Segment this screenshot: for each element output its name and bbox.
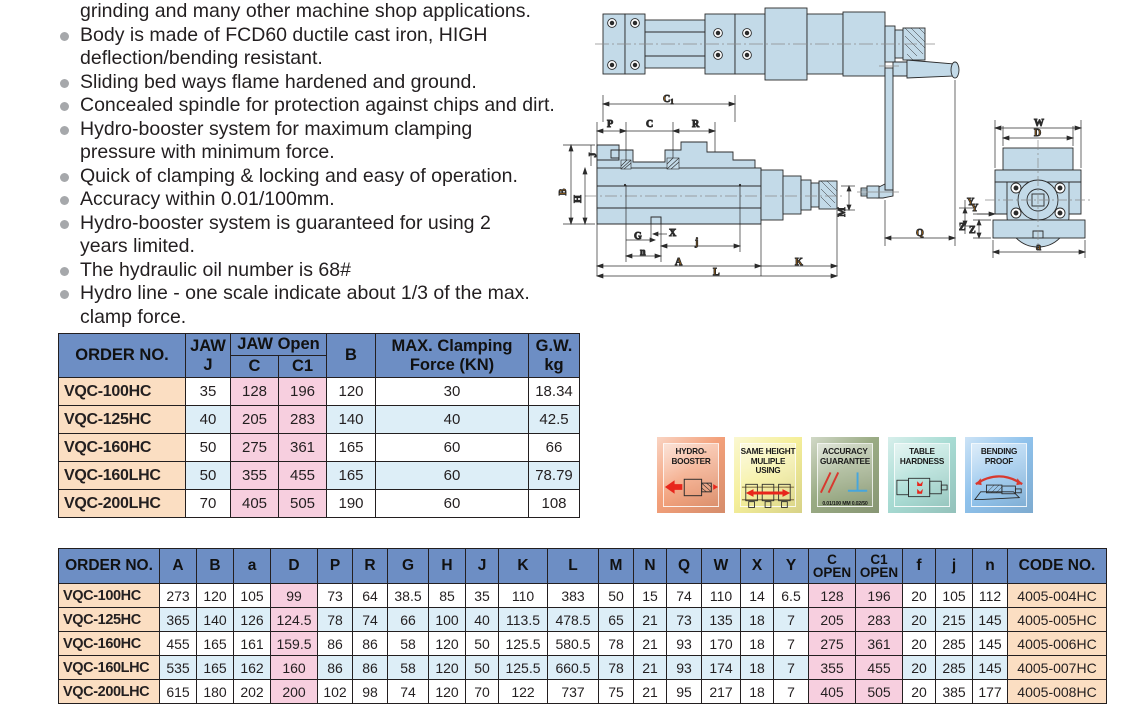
dim-label-J: J [588, 153, 599, 158]
bullet-icon [60, 290, 69, 299]
data-cell: 165 [197, 656, 234, 680]
data-cell: 217 [702, 680, 741, 704]
badge-label-line1: TABLE [909, 447, 935, 456]
data-cell: 100 [429, 608, 466, 632]
data-cell: 40 [376, 406, 529, 434]
data-cell: 128 [809, 584, 856, 608]
accuracy-guarantee-icon [817, 466, 873, 501]
data-cell: 128 [231, 378, 279, 406]
data-cell: 65 [599, 608, 634, 632]
data-cell: 7 [774, 656, 809, 680]
th-G: G [388, 549, 429, 584]
data-cell: 535 [160, 656, 197, 680]
data-cell: 112 [973, 584, 1008, 608]
data-cell: 275 [231, 434, 279, 462]
data-cell: 18 [741, 680, 774, 704]
data-cell: 18 [741, 656, 774, 680]
data-cell: 105 [936, 584, 973, 608]
feature-badge: TABLEHARDNESS [888, 437, 956, 513]
data-cell: 145 [973, 608, 1008, 632]
dim-label-A: A [675, 257, 683, 268]
dim-label-C1-top: C1 [663, 94, 674, 106]
dim-label-D: D [1034, 128, 1041, 139]
feature-text: grinding and many other machine shop app… [80, 0, 531, 22]
data-cell: 74 [353, 608, 388, 632]
data-cell: 165 [197, 632, 234, 656]
feature-line: grinding and many other machine shop app… [58, 0, 603, 24]
data-cell: 505 [279, 490, 327, 518]
th-max-clamping-force: MAX. Clamping Force (KN) [376, 334, 529, 378]
data-cell: 35 [186, 378, 231, 406]
bullet-icon [60, 196, 69, 205]
feature-text: Body is made of FCD60 ductile cast iron,… [80, 24, 488, 46]
data-cell: 285 [936, 656, 973, 680]
badge-sublabel: 0.01/100 MM 0.02/50 [822, 501, 867, 507]
th-B: B [197, 549, 234, 584]
data-cell: 50 [466, 632, 499, 656]
feature-list: grinding and many other machine shop app… [58, 0, 603, 329]
table-row: VQC-125HC402052831404042.5 [59, 406, 580, 434]
th-gross-weight: G.W. kg [529, 334, 580, 378]
data-cell: 18 [741, 608, 774, 632]
data-cell: 196 [856, 584, 903, 608]
data-cell: 20 [903, 584, 936, 608]
data-cell: 580.5 [548, 632, 599, 656]
th-L: L [548, 549, 599, 584]
data-cell: 273 [160, 584, 197, 608]
data-cell: 125.5 [499, 656, 548, 680]
dim-label-a: a [1036, 242, 1041, 253]
data-cell: 285 [936, 632, 973, 656]
badge-label: SAME HEIGHTMULIPLE USING [740, 447, 796, 476]
badge-label: BENDINGPROOF [981, 447, 1017, 466]
th-order: ORDER NO. [59, 549, 160, 584]
data-cell: 145 [973, 656, 1008, 680]
data-cell: 86 [318, 656, 353, 680]
feature-line: clamp force. [58, 306, 603, 330]
feature-text: Concealed spindle for protection against… [80, 94, 555, 116]
dim-label-Q: Q [916, 228, 924, 239]
badge-label-line2: MULIPLE USING [751, 457, 786, 476]
data-cell: 21 [634, 656, 667, 680]
data-cell: 120 [429, 656, 466, 680]
data-cell: 21 [634, 632, 667, 656]
th-order-no: ORDER NO. [59, 334, 186, 378]
bullet-icon [60, 220, 69, 229]
code-no-cell: 4005-007HC [1008, 656, 1107, 680]
data-cell: 85 [429, 584, 466, 608]
data-cell: 99 [271, 584, 318, 608]
dim-label-L: L [713, 267, 720, 278]
drawing-handle-view: Q Y Z [857, 60, 975, 246]
data-cell: 73 [318, 584, 353, 608]
data-cell: 120 [429, 680, 466, 704]
data-cell: 93 [667, 656, 702, 680]
bullet-icon [60, 173, 69, 182]
dim-label-P: P [607, 119, 613, 130]
data-cell: 113.5 [499, 608, 548, 632]
data-cell: 110 [499, 584, 548, 608]
data-cell: 165 [327, 462, 376, 490]
data-cell: 78 [318, 608, 353, 632]
data-cell: 737 [548, 680, 599, 704]
table2-header-row: ORDER NO.ABaDPRGHJKLMNQWXYCOPENC1OPENfjn… [59, 549, 1107, 584]
feature-text: pressure with minimum force. [80, 141, 335, 163]
badge-label-line1: ACCURACY [822, 447, 867, 456]
data-cell: 385 [936, 680, 973, 704]
th-M: M [599, 549, 634, 584]
order-no-cell: VQC-200LHC [59, 680, 160, 704]
bullet-icon [60, 102, 69, 111]
feature-line: deflection/bending resistant. [58, 47, 603, 71]
data-cell: 58 [388, 632, 429, 656]
drawing-top-view [595, 8, 935, 80]
drawing-side-view [585, 142, 845, 224]
feature-line: Quick of clamping & locking and easy of … [58, 165, 603, 189]
data-cell: 18.34 [529, 378, 580, 406]
data-cell: 7 [774, 680, 809, 704]
feature-badge: SAME HEIGHTMULIPLE USING [734, 437, 802, 513]
data-cell: 108 [529, 490, 580, 518]
bending-proof-icon [971, 466, 1027, 507]
dim-label-M: M [837, 207, 848, 217]
data-cell: 140 [197, 608, 234, 632]
data-cell: 159.5 [271, 632, 318, 656]
badge-label: ACCURACYGUARANTEE [820, 447, 870, 466]
drawing-front-view: W D Y Z a [969, 118, 1091, 258]
data-cell: 283 [856, 608, 903, 632]
data-cell: 20 [903, 656, 936, 680]
feature-line: Sliding bed ways flame hardened and grou… [58, 71, 603, 95]
data-cell: 205 [809, 608, 856, 632]
feature-line: Hydro-booster system is guaranteed for u… [58, 212, 603, 236]
feature-text: Sliding bed ways flame hardened and grou… [80, 71, 477, 93]
th-code: CODE NO. [1008, 549, 1107, 584]
th-j-label: J [186, 356, 230, 375]
dim-label-C: C [646, 119, 653, 130]
data-cell: 455 [160, 632, 197, 656]
data-cell: 283 [279, 406, 327, 434]
data-cell: 365 [160, 608, 197, 632]
data-cell: 660.5 [548, 656, 599, 680]
dim-label-G: G [634, 231, 642, 242]
data-cell: 75 [599, 680, 634, 704]
code-no-cell: 4005-005HC [1008, 608, 1107, 632]
order-no-cell: VQC-160LHC [59, 462, 186, 490]
table-row: VQC-125HC365140126124.578746610040113.54… [59, 608, 1107, 632]
feature-text: Hydro-booster system for maximum clampin… [80, 118, 472, 140]
th-R: R [353, 549, 388, 584]
data-cell: 505 [856, 680, 903, 704]
hydro-booster-icon [663, 466, 719, 507]
data-cell: 205 [231, 406, 279, 434]
data-cell: 70 [186, 490, 231, 518]
bullet-icon [60, 267, 69, 276]
th-H: H [429, 549, 466, 584]
th-c1_open: C1OPEN [856, 549, 903, 584]
th-N: N [634, 549, 667, 584]
data-cell: 74 [667, 584, 702, 608]
table-row: VQC-160HC455165161159.586865812050125.55… [59, 632, 1107, 656]
data-cell: 105 [234, 584, 271, 608]
feature-line: Hydro line - one scale indicate about 1/… [58, 282, 603, 306]
data-cell: 78.79 [529, 462, 580, 490]
data-cell: 615 [160, 680, 197, 704]
badge-label-line2: GUARANTEE [820, 457, 870, 466]
feature-line: pressure with minimum force. [58, 141, 603, 165]
data-cell: 200 [271, 680, 318, 704]
feature-text: Quick of clamping & locking and easy of … [80, 165, 518, 187]
data-cell: 6.5 [774, 584, 809, 608]
dim-label-Z-handle: Z [959, 222, 966, 233]
data-cell: 20 [903, 680, 936, 704]
feature-badge-row: HYDRO-BOOSTER SAME HEIGHTMULIPLE USING A… [657, 437, 1033, 513]
data-cell: 177 [973, 680, 1008, 704]
data-cell: 38.5 [388, 584, 429, 608]
badge-label: HYDRO-BOOSTER [671, 447, 710, 466]
data-cell: 21 [634, 608, 667, 632]
feature-line: Accuracy within 0.01/100mm. [58, 188, 603, 212]
th-n: n [973, 549, 1008, 584]
data-cell: 7 [774, 632, 809, 656]
data-cell: 122 [499, 680, 548, 704]
th-Y: Y [774, 549, 809, 584]
th-a: a [234, 549, 271, 584]
th-line2: OPEN [858, 566, 900, 579]
th-jaw-j: JAW J [186, 334, 231, 378]
data-cell: 66 [529, 434, 580, 462]
feature-text: Hydro-booster system is guaranteed for u… [80, 212, 491, 234]
data-cell: 78 [599, 656, 634, 680]
data-cell: 355 [231, 462, 279, 490]
data-cell: 174 [702, 656, 741, 680]
data-cell: 35 [466, 584, 499, 608]
table-row: VQC-200LHC615180202200102987412070122737… [59, 680, 1107, 704]
data-cell: 110 [702, 584, 741, 608]
data-cell: 162 [234, 656, 271, 680]
dim-label-H: H [573, 195, 584, 203]
data-cell: 93 [667, 632, 702, 656]
th-X: X [741, 549, 774, 584]
dim-label-j: j [694, 237, 698, 248]
code-no-cell: 4005-004HC [1008, 584, 1107, 608]
feature-line: Body is made of FCD60 ductile cast iron,… [58, 24, 603, 48]
table1-header-row: ORDER NO. JAW J JAW Open B MAX. Clamping… [59, 334, 580, 356]
feature-text: Hydro line - one scale indicate about 1/… [80, 282, 530, 304]
table-row: VQC-200LHC7040550519060108 [59, 490, 580, 518]
data-cell: 86 [318, 632, 353, 656]
table-hardness-icon [894, 466, 950, 507]
data-cell: 30 [376, 378, 529, 406]
feature-line: The hydraulic oil number is 68# [58, 259, 603, 283]
table-row: VQC-100HC351281961203018.34 [59, 378, 580, 406]
bullet-icon [60, 126, 69, 135]
data-cell: 125.5 [499, 632, 548, 656]
dim-label-B: B [558, 188, 569, 195]
data-cell: 50 [466, 656, 499, 680]
data-cell: 66 [388, 608, 429, 632]
data-cell: 50 [186, 434, 231, 462]
order-no-cell: VQC-160LHC [59, 656, 160, 680]
data-cell: 126 [234, 608, 271, 632]
feature-line: years limited. [58, 235, 603, 259]
data-cell: 355 [809, 656, 856, 680]
th-D: D [271, 549, 318, 584]
badge-label-line1: BENDING [981, 447, 1017, 456]
feature-text: The hydraulic oil number is 68# [80, 259, 351, 281]
th-J: J [466, 549, 499, 584]
bullet-icon [60, 79, 69, 88]
data-cell: 161 [234, 632, 271, 656]
dim-label-X: X [669, 228, 677, 239]
feature-text: years limited. [80, 235, 195, 257]
table-row: VQC-160HC502753611656066 [59, 434, 580, 462]
data-cell: 140 [327, 406, 376, 434]
code-no-cell: 4005-006HC [1008, 632, 1107, 656]
th-jaw-label: JAW [186, 337, 230, 356]
data-cell: 86 [353, 656, 388, 680]
th-c1: C1 [279, 356, 327, 378]
data-cell: 120 [197, 584, 234, 608]
th-Q: Q [667, 549, 702, 584]
data-cell: 86 [353, 632, 388, 656]
data-cell: 20 [903, 608, 936, 632]
data-cell: 14 [741, 584, 774, 608]
order-no-cell: VQC-100HC [59, 378, 186, 406]
th-gw-unit: kg [529, 356, 579, 375]
th-W: W [702, 549, 741, 584]
data-cell: 50 [186, 462, 231, 490]
badge-label-line2: PROOF [985, 457, 1013, 466]
data-cell: 405 [231, 490, 279, 518]
data-cell: 455 [856, 656, 903, 680]
feature-line: Hydro-booster system for maximum clampin… [58, 118, 603, 142]
data-cell: 60 [376, 462, 529, 490]
feature-text: Accuracy within 0.01/100mm. [80, 188, 335, 210]
data-cell: 21 [634, 680, 667, 704]
feature-line: Concealed spindle for protection against… [58, 94, 603, 118]
dim-label-Z-front: Z [969, 225, 976, 236]
badge-label-line1: SAME HEIGHT [741, 447, 796, 456]
order-no-cell: VQC-100HC [59, 584, 160, 608]
data-cell: 64 [353, 584, 388, 608]
data-cell: 60 [376, 490, 529, 518]
data-cell: 73 [667, 608, 702, 632]
data-cell: 15 [634, 584, 667, 608]
th-K: K [499, 549, 548, 584]
data-cell: 180 [197, 680, 234, 704]
data-cell: 70 [466, 680, 499, 704]
order-no-cell: VQC-160HC [59, 632, 160, 656]
table-row: VQC-160LHC53516516216086865812050125.566… [59, 656, 1107, 680]
data-cell: 170 [702, 632, 741, 656]
th-c: C [231, 356, 279, 378]
feature-text: clamp force. [80, 306, 186, 328]
bullet-icon [60, 32, 69, 41]
badge-label-line2: HARDNESS [900, 457, 944, 466]
code-no-cell: 4005-008HC [1008, 680, 1107, 704]
th-gw-label: G.W. [529, 337, 579, 356]
data-cell: 124.5 [271, 608, 318, 632]
th-f: f [903, 549, 936, 584]
order-no-cell: VQC-125HC [59, 406, 186, 434]
data-cell: 58 [388, 656, 429, 680]
data-cell: 120 [327, 378, 376, 406]
dim-label-K: K [795, 257, 803, 268]
data-cell: 145 [973, 632, 1008, 656]
data-cell: 478.5 [548, 608, 599, 632]
order-no-cell: VQC-200LHC [59, 490, 186, 518]
feature-badge: BENDINGPROOF [965, 437, 1033, 513]
th-j: j [936, 549, 973, 584]
data-cell: 40 [186, 406, 231, 434]
feature-badge: HYDRO-BOOSTER [657, 437, 725, 513]
data-cell: 383 [548, 584, 599, 608]
dim-label-R: R [692, 119, 700, 130]
data-cell: 98 [353, 680, 388, 704]
data-cell: 50 [599, 584, 634, 608]
dim-label-n: n [640, 247, 646, 258]
data-cell: 165 [327, 434, 376, 462]
data-cell: 190 [327, 490, 376, 518]
data-cell: 20 [903, 632, 936, 656]
th-jaw-open: JAW Open [231, 334, 327, 356]
badge-label: TABLEHARDNESS [900, 447, 944, 466]
data-cell: 196 [279, 378, 327, 406]
data-cell: 95 [667, 680, 702, 704]
data-cell: 120 [429, 632, 466, 656]
table-row: VQC-160LHC503554551656078.79 [59, 462, 580, 490]
data-cell: 78 [599, 632, 634, 656]
order-no-cell: VQC-160HC [59, 434, 186, 462]
data-cell: 275 [809, 632, 856, 656]
table-row: VQC-100HC27312010599736438.5853511038350… [59, 584, 1107, 608]
data-cell: 40 [466, 608, 499, 632]
data-cell: 405 [809, 680, 856, 704]
th-A: A [160, 549, 197, 584]
specification-table-2: ORDER NO.ABaDPRGHJKLMNQWXYCOPENC1OPENfjn… [58, 548, 1107, 704]
technical-drawings: C1 [555, 0, 1121, 320]
data-cell: 60 [376, 434, 529, 462]
data-cell: 160 [271, 656, 318, 680]
feature-text: deflection/bending resistant. [80, 47, 323, 69]
th-P: P [318, 549, 353, 584]
data-cell: 102 [318, 680, 353, 704]
th-c_open: COPEN [809, 549, 856, 584]
data-cell: 361 [279, 434, 327, 462]
badge-label-line1: HYDRO- [675, 447, 706, 456]
order-no-cell: VQC-125HC [59, 608, 160, 632]
feature-badge: ACCURACYGUARANTEE 0.01/100 MM 0.02/50 [811, 437, 879, 513]
data-cell: 215 [936, 608, 973, 632]
data-cell: 455 [279, 462, 327, 490]
badge-label-line2: BOOSTER [671, 457, 710, 466]
th-b: B [327, 334, 376, 378]
data-cell: 202 [234, 680, 271, 704]
specification-table-1: ORDER NO. JAW J JAW Open B MAX. Clamping… [58, 333, 580, 518]
data-cell: 7 [774, 608, 809, 632]
th-line2: OPEN [811, 566, 853, 579]
data-cell: 42.5 [529, 406, 580, 434]
dim-label-Y-front: Y [971, 203, 979, 214]
same-height-multiple-icon [740, 476, 796, 510]
data-cell: 74 [388, 680, 429, 704]
data-cell: 135 [702, 608, 741, 632]
data-cell: 18 [741, 632, 774, 656]
data-cell: 361 [856, 632, 903, 656]
